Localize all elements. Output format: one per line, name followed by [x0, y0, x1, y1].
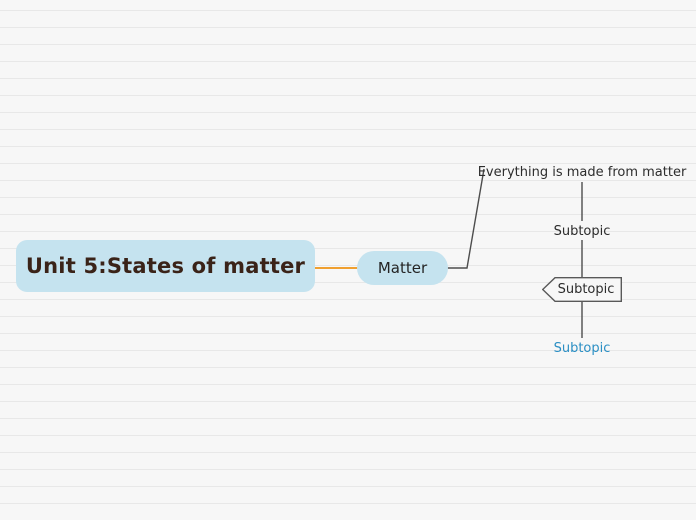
root-node-label: Unit 5:States of matter [26, 254, 305, 278]
connector-matter-to-subtopic-1 [447, 169, 484, 268]
branch-node-matter-label: Matter [378, 259, 427, 277]
subtopic-label-1: Everything is made from matter [478, 165, 687, 180]
subtopic-label-2: Subtopic [554, 224, 611, 239]
subtopic-node-4-accent[interactable]: Subtopic [554, 341, 611, 356]
subtopic-node-2[interactable]: Subtopic [554, 224, 611, 239]
root-node[interactable]: Unit 5:States of matter [16, 240, 315, 292]
branch-node-matter[interactable]: Matter [357, 251, 448, 285]
subtopic-node-everything-is-made-from-matter[interactable]: Everything is made from matter [478, 165, 687, 180]
subtopic-node-3-pentagon[interactable]: Subtopic [542, 277, 622, 302]
mindmap-canvas[interactable]: Unit 5:States of matter Matter Everythin… [0, 0, 696, 520]
subtopic-label-4: Subtopic [554, 341, 611, 356]
subtopic-label-3: Subtopic [542, 277, 622, 302]
